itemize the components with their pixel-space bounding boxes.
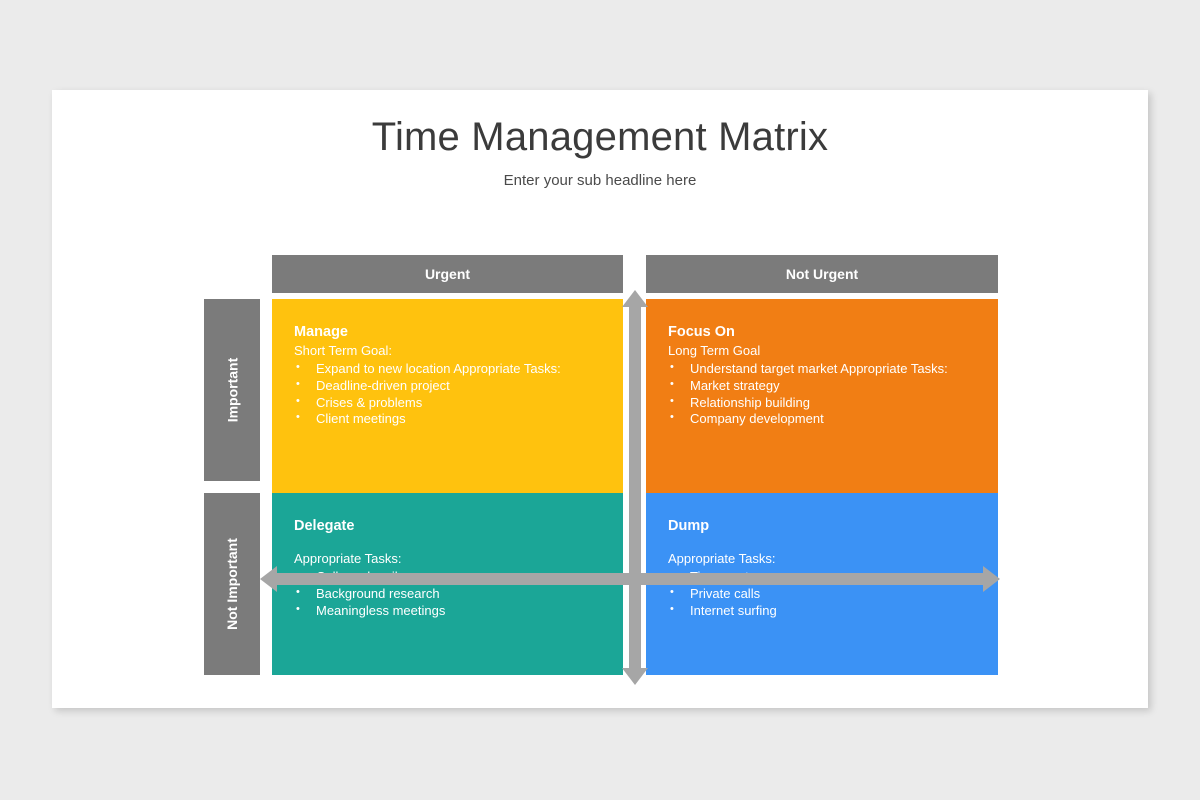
row-header-not-important-label: Not Important	[224, 538, 240, 630]
list-item: Market strategy	[668, 378, 978, 395]
quadrant-manage-list: Expand to new location Appropriate Tasks…	[294, 361, 603, 428]
quadrant-dump-title: Dump	[668, 517, 978, 536]
row-header-not-important[interactable]: Not Important	[204, 493, 260, 675]
quadrant-focus-on-title: Focus On	[668, 323, 978, 342]
quadrant-delegate-title: Delegate	[294, 517, 603, 536]
quadrant-focus-on-subtitle: Long Term Goal	[668, 342, 978, 359]
column-header-urgent-label: Urgent	[425, 266, 470, 282]
list-item: Relationship building	[668, 395, 978, 412]
list-item: Understand target market Appropriate Tas…	[668, 361, 978, 378]
time-management-matrix: Urgent Not Urgent Important Not Importan…	[52, 90, 1148, 708]
list-item: Crises & problems	[294, 395, 603, 412]
screen: Time Management Matrix Enter your sub he…	[0, 0, 1200, 800]
list-item: Client meetings	[294, 411, 603, 428]
row-header-important-label: Important	[224, 358, 240, 423]
column-header-not-urgent-label: Not Urgent	[786, 266, 858, 282]
list-item: Deadline-driven project	[294, 378, 603, 395]
list-item: Company development	[668, 411, 978, 428]
quadrant-manage-subtitle: Short Term Goal:	[294, 342, 603, 359]
list-item: Meaningless meetings	[294, 603, 603, 620]
quadrant-focus-on-list: Understand target market Appropriate Tas…	[668, 361, 978, 428]
list-item: Expand to new location Appropriate Tasks…	[294, 361, 603, 378]
row-header-important[interactable]: Important	[204, 299, 260, 481]
column-header-urgent[interactable]: Urgent	[272, 255, 623, 293]
horizontal-double-arrow-icon	[260, 562, 1000, 596]
column-header-not-urgent[interactable]: Not Urgent	[646, 255, 998, 293]
quadrant-manage-title: Manage	[294, 323, 603, 342]
list-item: Internet surfing	[668, 603, 978, 620]
vertical-double-arrow-icon	[618, 290, 652, 685]
slide-card: Time Management Matrix Enter your sub he…	[52, 90, 1148, 708]
